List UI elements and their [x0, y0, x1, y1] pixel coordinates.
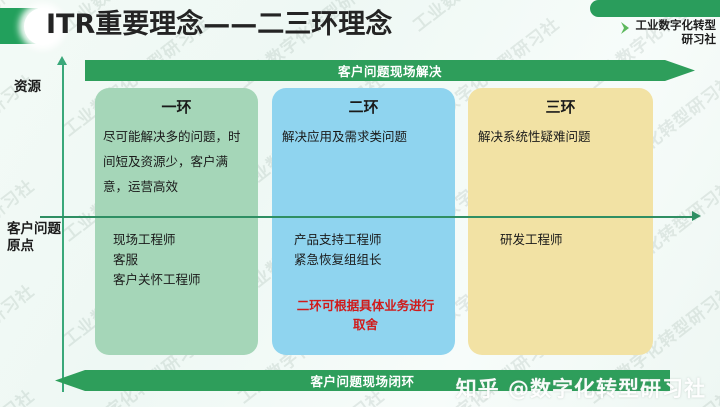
watermark-text: 工业数字化转型研习社 [0, 382, 39, 407]
brand-logo-line2: 研习社 [682, 32, 717, 46]
arrow-top-resolve: 客户问题现场解决 [85, 60, 695, 81]
arrow-bottom-label: 客户问题现场闭环 [310, 371, 414, 390]
header-logo-bar [590, 0, 720, 17]
ring-card-2-title: 二环 [272, 96, 455, 117]
brand-logo-text: 工业数字化转型 研习社 [636, 18, 717, 46]
ring-card-2: 二环 解决应用及需求类问题 产品支持工程师 紧急恢复组组长 二环可根据具体业务进… [272, 88, 455, 355]
ring-card-1: 一环 尽可能解决多的问题，时间短及资源少，客户满意，运营高效 现场工程师 客服 … [95, 88, 258, 355]
arrow-top-label: 客户问题现场解决 [338, 61, 442, 80]
ring-card-2-roles: 产品支持工程师 紧急恢复组组长 [294, 230, 445, 270]
page-title: ITR重要理念——二三环理念 [46, 5, 392, 45]
ring-card-3-title: 三环 [468, 96, 653, 117]
ring-card-3-roles: 研发工程师 [500, 230, 643, 250]
slide-header: ITR重要理念——二三环理念 工业数字化转型 研习社 [0, 0, 720, 50]
y-axis-label: 资源 [14, 75, 41, 95]
origin-label: 客户问题原点 [7, 221, 63, 255]
slide-canvas: 工业数字化转型研习社工业数字化转型研习社工业数字化转型研习社工业数字化转型研习社… [0, 0, 720, 407]
ring-card-2-body: 解决应用及需求类问题 [282, 124, 445, 149]
ring-card-3-body: 解决系统性疑难问题 [478, 124, 643, 149]
ring-card-1-roles: 现场工程师 客服 客户关怀工程师 [113, 230, 248, 290]
ring-card-3: 三环 解决系统性疑难问题 研发工程师 [468, 88, 653, 355]
brand-logo-line1: 工业数字化转型 [636, 18, 717, 32]
brand-logo: 工业数字化转型 研习社 [581, 18, 716, 46]
watermark-text: 工业数字化转型研习社 [0, 277, 39, 407]
ring-card-1-body: 尽可能解决多的问题，时间短及资源少，客户满意，运营高效 [103, 124, 252, 199]
x-axis-arrow-icon [692, 211, 701, 221]
x-axis-line [40, 216, 695, 218]
zhihu-watermark: 知乎 @数字化转型研习社 [456, 373, 706, 403]
ring-card-2-note: 二环可根据具体业务进行取舍 [294, 296, 437, 334]
chevron-right-icon [620, 20, 633, 39]
ring-card-1-title: 一环 [95, 96, 258, 117]
